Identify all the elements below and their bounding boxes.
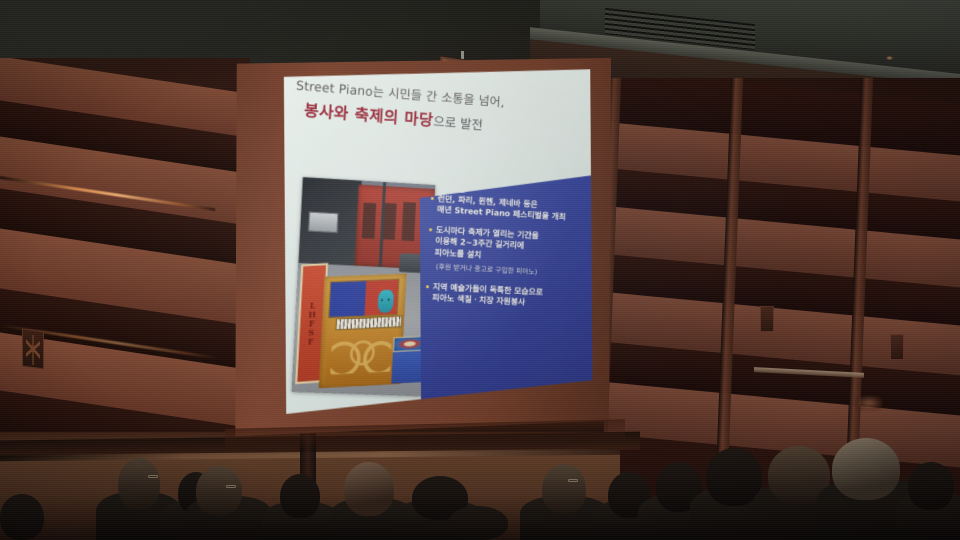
bullet-dot-icon: [426, 285, 429, 288]
photo-window: [402, 202, 416, 241]
bullet-panel: 런던, 파리, 뮌헨, 제네바 등은 매년 Street Piano 페스티벌을…: [420, 173, 593, 414]
mural-face-icon: [376, 283, 395, 313]
audience-head: [0, 494, 44, 540]
audience-head: [118, 458, 160, 510]
piano-letter: F: [307, 337, 313, 345]
audience-head: [280, 474, 320, 518]
audience-head: [196, 466, 242, 516]
photo-window: [362, 203, 376, 239]
downlight-icon: [886, 56, 893, 60]
bullet-line: 피아노를 설치: [434, 247, 481, 259]
projection-screen: Street Piano는 시민들 간 소통을 넘어, 봉사와 축제의 마당으로…: [233, 56, 611, 436]
mural-eye: [381, 299, 383, 301]
piano-keyboard: [335, 315, 402, 330]
mural-eye: [387, 299, 389, 301]
eyeglasses-icon: [226, 485, 236, 488]
bullet-text: 지역 예술가들이 독특한 모습으로 피아노 색칠ㆍ치장 자원봉사: [432, 282, 593, 313]
bullet-line: 매년 Street Piano 페스티벌을 개최: [437, 205, 566, 223]
wall-sconce-icon: [22, 328, 44, 369]
audience-head-gray: [832, 438, 900, 500]
bullet-text: 런던, 파리, 뮌헨, 제네바 등은 매년 Street Piano 페스티벌을…: [437, 193, 593, 226]
wall-plate: [760, 306, 774, 332]
bullet-item: 지역 예술가들이 독특한 모습으로 피아노 색칠ㆍ치장 자원봉사: [425, 281, 592, 312]
slide-canvas: Street Piano는 시민들 간 소통을 넘어, 봉사와 축제의 마당으로…: [284, 65, 593, 414]
bullet-list: 런던, 파리, 뮌헨, 제네바 등은 매년 Street Piano 페스티벌을…: [425, 193, 593, 321]
bullet-dot-icon: [431, 197, 434, 200]
mural-head: [377, 289, 394, 313]
bullet-text: 도시마다 축제가 열리는 기간을 이용해 2~3주간 길거리에 피아노를 설치: [434, 225, 592, 268]
conference-hall-photo: Street Piano는 시민들 간 소통을 넘어, 봉사와 축제의 마당으로…: [0, 0, 960, 540]
piano-scrollwork: [330, 335, 392, 374]
audience-head-bald: [344, 462, 394, 516]
audience-head: [542, 464, 586, 514]
photo-wall-vent: [308, 212, 338, 233]
audience: [0, 430, 960, 540]
bullet-dot-icon: [429, 228, 432, 231]
bullet-item: 런던, 파리, 뮌헨, 제네바 등은 매년 Street Piano 페스티벌을…: [430, 193, 593, 226]
presentation-slide: Street Piano는 시민들 간 소통을 넘어, 봉사와 축제의 마당으로…: [284, 65, 593, 414]
eyeglasses-icon: [148, 475, 158, 478]
ambient-glow: [856, 396, 882, 410]
audience-head: [448, 506, 508, 540]
bullet-item: 도시마다 축제가 열리는 기간을 이용해 2~3주간 길거리에 피아노를 설치: [428, 224, 593, 267]
eyeglasses-icon: [568, 479, 578, 482]
wall-plate: [890, 334, 904, 360]
street-piano-photo: L H F S F: [292, 177, 435, 396]
audience-head: [908, 462, 954, 510]
slide-title-accent: 봉사와 축제의 마당: [304, 101, 434, 130]
slide-title-tail: 으로 발전: [433, 115, 483, 134]
